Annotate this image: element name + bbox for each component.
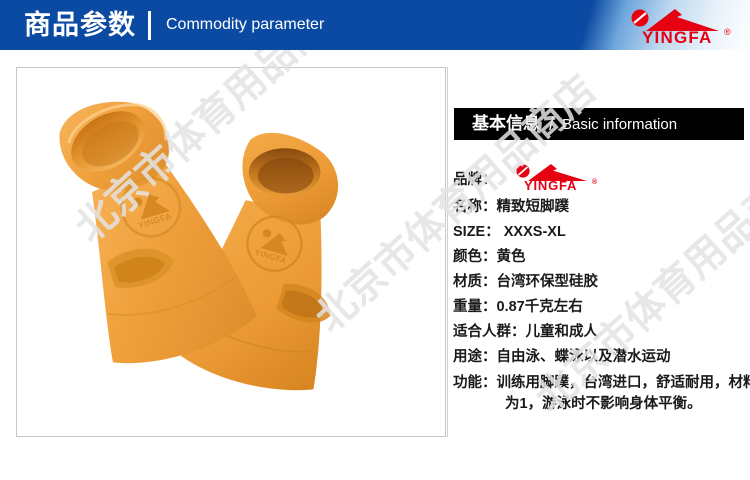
spec-value-size: XXXS-XL (500, 224, 566, 240)
spec-row-function: 功能：训练用脚蹼，台湾进口，舒适耐用，材料比重为1，游泳时不影响身体平衡。 (453, 373, 750, 415)
spec-key-function: 功能： (453, 375, 497, 391)
yingfa-brand-logo: YINGFA ® (620, 5, 740, 47)
product-photo-image: YINGFA (17, 68, 445, 436)
spec-row-usage: 用途：自由泳、蝶泳以及潜水运动 (453, 345, 749, 370)
svg-text:YINGFA: YINGFA (642, 28, 713, 47)
spec-value-weight: 0.87千克左右 (497, 299, 583, 315)
spec-value-material: 台湾环保型硅胶 (497, 274, 599, 290)
spec-key-size: SIZE： (453, 224, 500, 240)
yingfa-inline-logo: YINGFA ® (507, 161, 607, 193)
spec-key-material: 材质： (453, 274, 497, 290)
banner-title-cn: 基本信息 (472, 112, 540, 136)
page-title-cn: 商品参数 (24, 8, 136, 42)
basic-information-banner: 基本信息 / Basic information (454, 108, 744, 140)
spec-key-brand: 品牌： (453, 172, 497, 188)
banner-title-en: Basic information (562, 114, 677, 136)
svg-text:YINGFA: YINGFA (524, 178, 577, 193)
spec-list: 品牌： YINGFA ® 名称：精致短脚蹼 SIZE： XXXS-XL (453, 165, 749, 415)
spec-key-name: 名称： (453, 199, 497, 215)
spec-key-audience: 适合人群： (453, 324, 526, 340)
basic-information-panel: 基本信息 / Basic information 品牌： YINGFA ® (447, 67, 750, 437)
spec-key-weight: 重量： (453, 299, 497, 315)
spec-row-weight: 重量：0.87千克左右 (453, 295, 749, 320)
spec-row-color: 颜色：黄色 (453, 245, 749, 270)
spec-value-name: 精致短脚蹼 (497, 199, 570, 215)
spec-row-brand: 品牌： YINGFA ® (453, 165, 749, 195)
product-parameter-page: 商品参数 Commodity parameter YINGFA ® (0, 0, 750, 480)
product-photo-frame[interactable]: YINGFA (16, 67, 446, 437)
spec-row-audience: 适合人群：儿童和成人 (453, 320, 749, 345)
spec-row-name: 名称：精致短脚蹼 (453, 195, 749, 220)
spec-row-material: 材质：台湾环保型硅胶 (453, 270, 749, 295)
spec-key-usage: 用途： (453, 349, 497, 365)
page-header: 商品参数 Commodity parameter YINGFA ® (0, 0, 750, 50)
header-divider (148, 11, 151, 40)
spec-row-size: SIZE： XXXS-XL (453, 220, 749, 245)
svg-text:®: ® (724, 27, 731, 37)
spec-value-function: 训练用脚蹼，台湾进口，舒适耐用，材料比重为1，游泳时不影响身体平衡。 (497, 375, 750, 412)
spec-value-color: 黄色 (497, 249, 526, 265)
banner-slash: / (549, 111, 554, 137)
page-title-en: Commodity parameter (166, 14, 324, 36)
spec-value-audience: 儿童和成人 (526, 324, 599, 340)
svg-text:®: ® (592, 178, 598, 186)
spec-value-usage: 自由泳、蝶泳以及潜水运动 (497, 349, 671, 365)
spec-key-color: 颜色： (453, 249, 497, 265)
